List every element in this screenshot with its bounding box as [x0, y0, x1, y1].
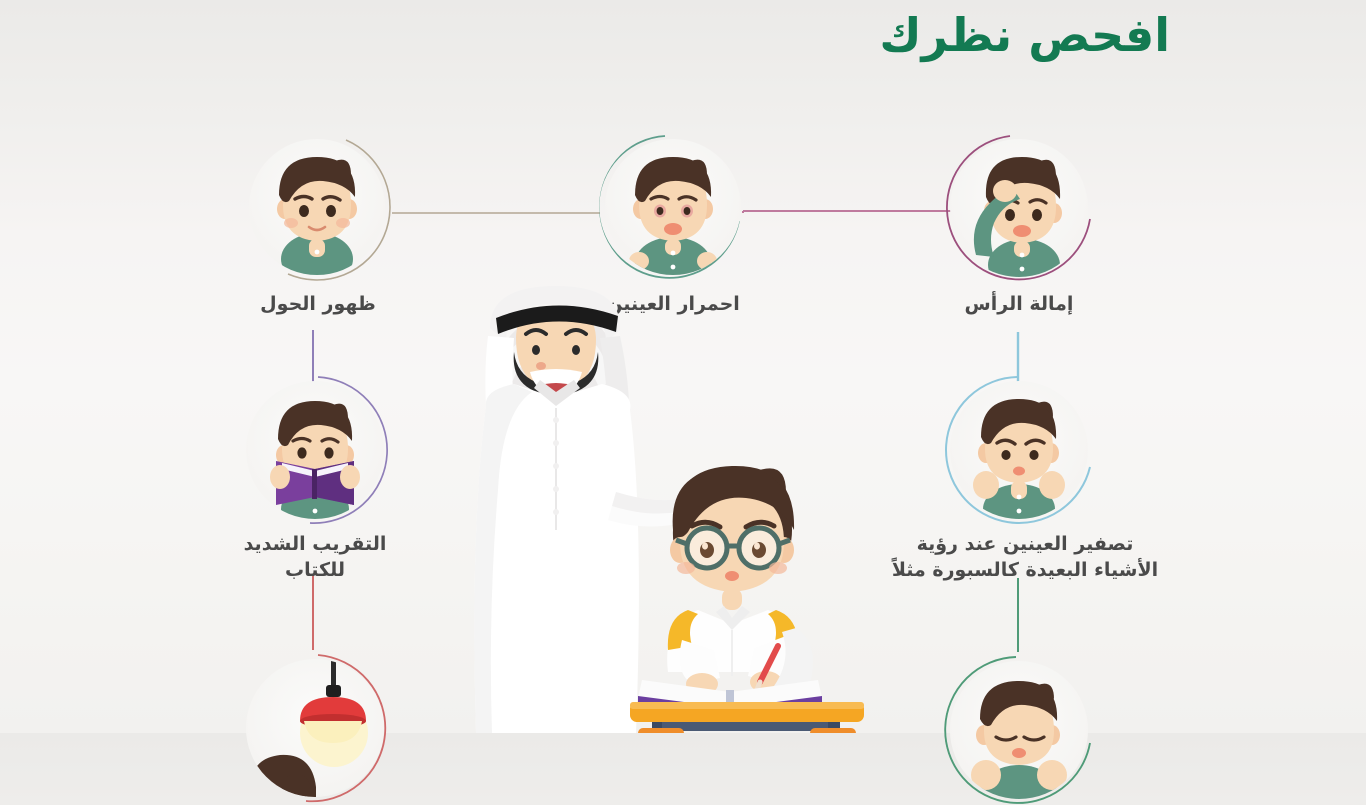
boy-red-eyes-icon: [605, 139, 741, 275]
lamp-glare-icon: [246, 659, 384, 797]
avatar-squinting: [950, 381, 1088, 519]
avatar-strabismus: [249, 139, 385, 275]
boy-reading-close-icon: [246, 381, 384, 519]
node-strabismus[interactable]: [243, 133, 391, 281]
infographic-canvas: افحص نظرك: [0, 0, 1366, 733]
avatar-head-tilt: [950, 139, 1088, 277]
node-head-tilt[interactable]: [944, 133, 1094, 283]
label-book-too-close: التقريب الشديد للكتاب: [215, 532, 415, 583]
boy-squinting-icon: [950, 381, 1088, 519]
boy-head-tilt-icon: [950, 139, 1088, 277]
school-desk: [630, 680, 864, 733]
node-light-sensitivity[interactable]: [240, 653, 390, 803]
avatar-eye-rubbing: [950, 661, 1088, 799]
label-head-tilt: إمالة الرأس: [934, 292, 1104, 318]
boy-rubbing-eyes-icon: [950, 661, 1088, 799]
boy-with-glasses-writing: [667, 466, 813, 695]
node-eye-rubbing[interactable]: [944, 655, 1094, 805]
center-illustration: [430, 280, 910, 733]
avatar-book-too-close: [246, 381, 384, 519]
avatar-red-eyes: [605, 139, 741, 275]
node-squinting[interactable]: [944, 375, 1094, 525]
label-strabismus: ظهور الحول: [233, 292, 403, 318]
boy-crossed-eyes-icon: [249, 139, 385, 275]
node-red-eyes[interactable]: [599, 133, 747, 281]
avatar-light-sensitivity: [246, 659, 384, 797]
node-book-too-close[interactable]: [240, 375, 390, 525]
teacher-and-student-scene: [430, 280, 910, 733]
